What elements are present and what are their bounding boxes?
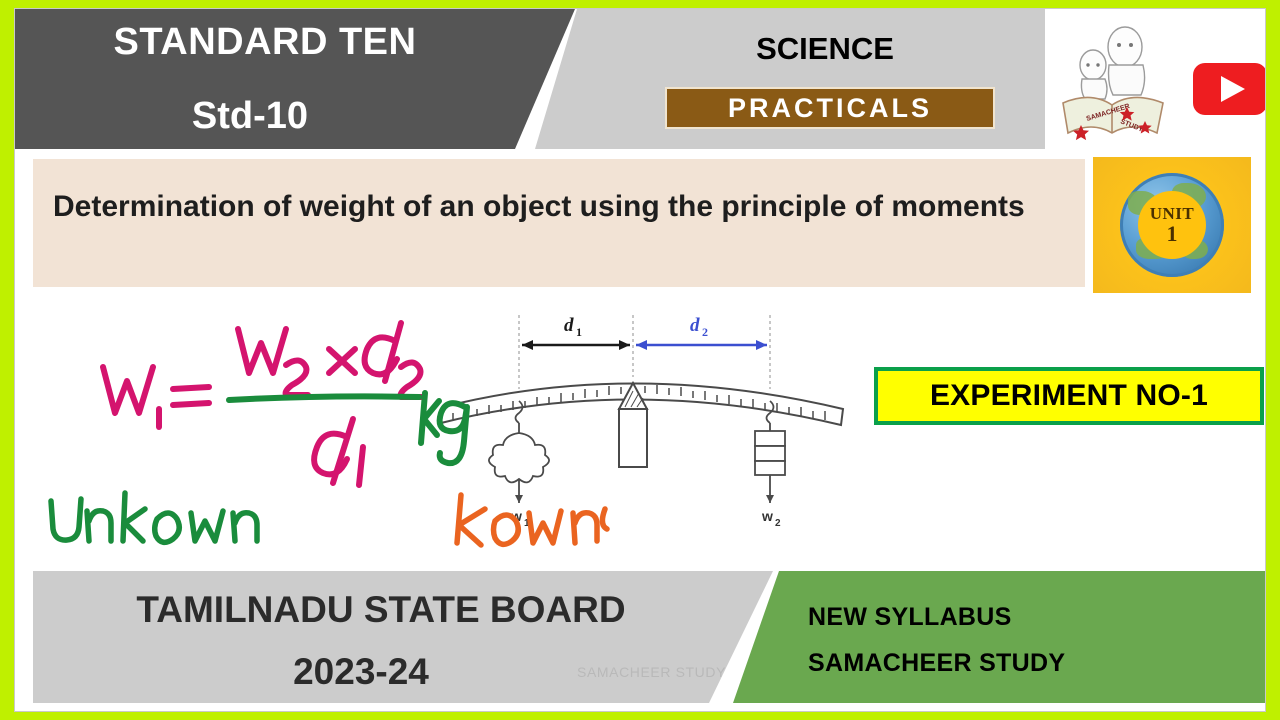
slide-card: STANDARD TEN Std-10 SCIENCE PRACTICALS S…: [14, 8, 1266, 712]
svg-text:1: 1: [576, 325, 582, 339]
standard-title-line2: Std-10: [15, 95, 485, 138]
known-annotation: [457, 495, 607, 545]
d2-label: d: [690, 315, 700, 336]
moments-diagram: d 1 d 2: [33, 297, 1251, 567]
svg-text:2: 2: [702, 325, 708, 339]
scale-graduations: [453, 382, 825, 420]
subject-title: SCIENCE: [615, 31, 1035, 67]
standard-title-line1: STANDARD TEN: [15, 21, 515, 64]
unit-number: 1: [1167, 222, 1178, 245]
fraction-bar-and-unit: [229, 393, 467, 463]
dimension-guides: [519, 315, 770, 389]
subject-subtitle-label: PRACTICALS: [728, 93, 932, 124]
d1-label: d: [564, 315, 574, 336]
unit-core: UNIT 1: [1138, 191, 1206, 259]
experiment-title-text: Determination of weight of an object usi…: [53, 183, 1059, 232]
header: STANDARD TEN Std-10 SCIENCE PRACTICALS S…: [15, 9, 1266, 149]
workspace: d 1 d 2: [33, 297, 1251, 567]
subject-subtitle-band: PRACTICALS: [665, 87, 995, 129]
d2-dimension-arrow: d 2: [636, 315, 767, 350]
youtube-triangle-icon: [1221, 76, 1245, 102]
svg-text:1: 1: [524, 518, 530, 529]
w1-label: w: [510, 508, 522, 524]
metre-scale: [441, 383, 843, 425]
watermark: SAMACHEER STUDY: [577, 664, 726, 680]
experiment-number-label: EXPERIMENT NO-1: [930, 379, 1208, 413]
footer: TAMILNADU STATE BOARD 2023-24 NEW SYLLAB…: [33, 571, 1266, 711]
globe-icon: UNIT 1: [1120, 173, 1224, 277]
handwritten-formula: [103, 323, 422, 485]
unit-badge: UNIT 1: [1093, 157, 1251, 293]
samacheer-study-book-logo: SAMACHEER STUDY: [1057, 21, 1169, 141]
fulcrum-stand: [619, 383, 647, 467]
w2-label: w: [761, 508, 773, 524]
board-name-line1: TAMILNADU STATE BOARD: [51, 589, 711, 631]
d1-dimension-arrow: d 1: [522, 315, 630, 350]
fulcrum-hatching: [625, 391, 643, 407]
youtube-play-icon[interactable]: [1193, 63, 1266, 115]
unit-label: UNIT: [1150, 205, 1195, 222]
experiment-number-badge: EXPERIMENT NO-1: [874, 367, 1264, 425]
svg-text:2: 2: [775, 518, 781, 529]
footer-green-panel: [733, 571, 1266, 703]
syllabus-line1: NEW SYLLABUS: [808, 603, 1012, 632]
w2-hanger: [755, 401, 785, 503]
experiment-title-band: Determination of weight of an object usi…: [33, 159, 1085, 287]
syllabus-line2: SAMACHEER STUDY: [808, 649, 1065, 678]
w1-hanger: [489, 401, 549, 503]
unknown-annotation: [51, 493, 257, 542]
slide: STANDARD TEN Std-10 SCIENCE PRACTICALS S…: [0, 0, 1280, 720]
